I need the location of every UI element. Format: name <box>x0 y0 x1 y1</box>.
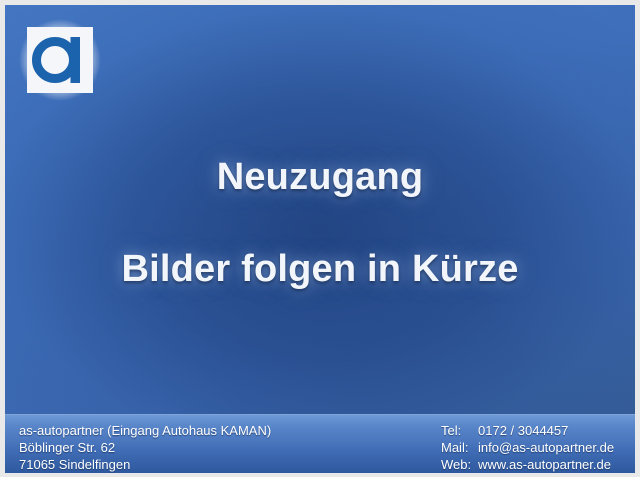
contact-mail-value[interactable]: info@as-autopartner.de <box>478 439 614 456</box>
address-line-2: Böblinger Str. 62 <box>19 439 271 456</box>
address-line-1: as-autopartner (Eingang Autohaus KAMAN) <box>19 422 271 439</box>
contact-details: Tel:0172 / 3044457 Mail:info@as-autopart… <box>441 422 614 473</box>
contact-mail[interactable]: Mail:info@as-autopartner.de <box>441 439 614 456</box>
headline-block: Neuzugang Bilder folgen in Kürze <box>5 155 635 291</box>
contact-web[interactable]: Web:www.as-autopartner.de <box>441 456 614 473</box>
contact-address: as-autopartner (Eingang Autohaus KAMAN) … <box>19 422 271 473</box>
contact-mail-label: Mail: <box>441 439 478 456</box>
contact-columns: as-autopartner (Eingang Autohaus KAMAN) … <box>5 415 635 473</box>
slide-canvas: Neuzugang Bilder folgen in Kürze as-auto… <box>5 5 635 473</box>
headline-primary: Neuzugang <box>5 155 635 199</box>
headline-secondary: Bilder folgen in Kürze <box>5 247 635 291</box>
slide-frame: Neuzugang Bilder folgen in Kürze as-auto… <box>0 0 640 477</box>
contact-phone-value: 0172 / 3044457 <box>478 422 568 439</box>
contact-bar: as-autopartner (Eingang Autohaus KAMAN) … <box>5 414 635 473</box>
contact-phone-label: Tel: <box>441 422 478 439</box>
contact-web-label: Web: <box>441 456 478 473</box>
logo-badge[interactable] <box>27 27 93 93</box>
address-line-3: 71065 Sindelfingen <box>19 456 271 473</box>
as-autopartner-logo-icon <box>27 27 93 93</box>
contact-phone: Tel:0172 / 3044457 <box>441 422 614 439</box>
contact-web-value[interactable]: www.as-autopartner.de <box>478 456 611 473</box>
